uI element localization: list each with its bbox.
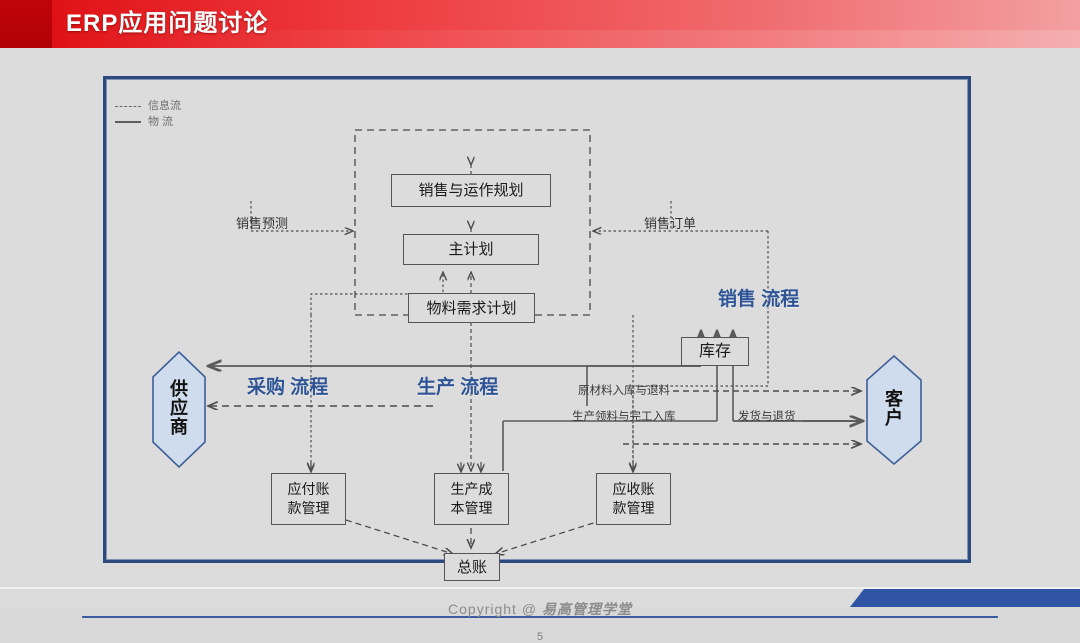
entity-label: 客 户 (866, 355, 922, 465)
box-label-line1: 应付账 (288, 480, 330, 499)
caption-shipment-return: 发货与退货 (738, 408, 796, 424)
dashed-line-icon (115, 106, 141, 107)
box-general-ledger[interactable]: 总账 (444, 553, 500, 581)
box-production-cost[interactable]: 生产成 本管理 (434, 473, 509, 525)
page-title: ERP应用问题讨论 (66, 8, 268, 40)
box-sales-operations-planning[interactable]: 销售与运作规划 (391, 174, 551, 207)
box-label-line2: 款管理 (288, 499, 330, 518)
box-accounts-receivable[interactable]: 应收账 款管理 (596, 473, 671, 525)
page-number: 5 (0, 631, 1080, 643)
legend-label-information-flow: 信息流 (148, 98, 181, 114)
box-material-requirements-plan[interactable]: 物料需求计划 (408, 293, 535, 323)
box-inventory[interactable]: 库存 (681, 337, 749, 366)
entity-supplier[interactable]: 供 应 商 (152, 351, 206, 468)
footer-white-strip (0, 587, 1080, 589)
header-left-block (0, 0, 52, 48)
process-label-production: 生产 流程 (417, 372, 498, 399)
legend: 信息流 物 流 (115, 98, 181, 130)
caption-sales-order: 销售订单 (644, 213, 696, 232)
copyright-owner: 易高管理学堂 (542, 602, 632, 618)
box-label-line1: 生产成 (451, 480, 493, 499)
box-label-line2: 款管理 (613, 499, 655, 518)
box-label: 销售与运作规划 (418, 181, 523, 200)
caption-raw-material-inbound: 原材料入库与退料 (578, 382, 670, 398)
slide-header: ERP应用问题讨论 (0, 0, 1080, 48)
caption-production-issue-inbound: 生产领料与完工入库 (572, 408, 676, 424)
box-label-line1: 应收账 (613, 480, 655, 499)
entity-label: 供 应 商 (152, 351, 206, 468)
process-label-purchasing: 采购 流程 (247, 372, 328, 399)
legend-item-information-flow: 信息流 (115, 98, 181, 114)
box-label: 物料需求计划 (426, 299, 516, 318)
entity-char: 户 (885, 410, 903, 429)
solid-line-icon (115, 121, 141, 123)
box-accounts-payable[interactable]: 应付账 款管理 (271, 473, 346, 525)
diagram-frame (103, 76, 971, 563)
diagram-frame-inner (106, 79, 968, 560)
box-master-schedule[interactable]: 主计划 (403, 234, 539, 265)
corner-accent-bar (850, 589, 1080, 607)
slide-body: 信息流 物 流 (0, 48, 1080, 607)
box-label: 总账 (457, 558, 487, 577)
legend-label-material-flow: 物 流 (148, 114, 173, 130)
legend-item-material-flow: 物 流 (115, 114, 181, 130)
entity-customer[interactable]: 客 户 (866, 355, 922, 465)
box-label: 库存 (699, 342, 731, 361)
process-label-sales: 销售 流程 (718, 284, 799, 311)
box-label-line2: 本管理 (451, 499, 493, 518)
box-label: 主计划 (448, 240, 493, 259)
caption-sales-forecast: 销售预测 (236, 213, 288, 232)
copyright-prefix: Copyright @ (448, 601, 537, 617)
entity-char: 商 (170, 419, 188, 438)
